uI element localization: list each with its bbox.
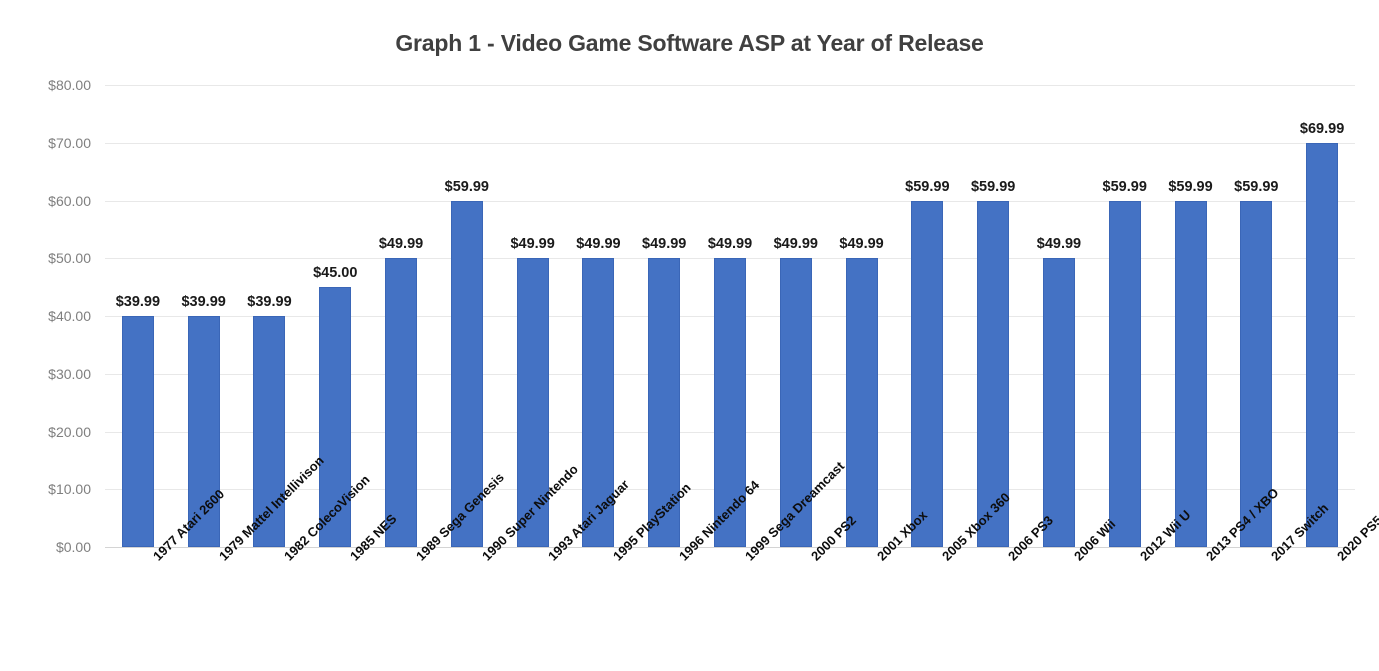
bar-slot: $39.99 <box>188 85 220 547</box>
y-axis-tick-label: $80.00 <box>11 77 91 93</box>
bar-value-label: $49.99 <box>576 236 620 252</box>
bar-value-label: $59.99 <box>905 179 949 195</box>
bar-slot: $45.00 <box>319 85 351 547</box>
bar-value-label: $59.99 <box>1168 179 1212 195</box>
bar-value-label: $69.99 <box>1300 121 1344 137</box>
bar-slot: $59.99 <box>1109 85 1141 547</box>
bar-slot: $39.99 <box>122 85 154 547</box>
bar-value-label: $49.99 <box>379 236 423 252</box>
bar-slot: $59.99 <box>451 85 483 547</box>
y-axis-tick-label: $50.00 <box>11 250 91 266</box>
bar-slot: $49.99 <box>582 85 614 547</box>
bar-value-label: $59.99 <box>1234 179 1278 195</box>
bar-value-label: $39.99 <box>116 294 160 310</box>
y-axis-tick-label: $60.00 <box>11 193 91 209</box>
chart-title: Graph 1 - Video Game Software ASP at Yea… <box>0 30 1379 57</box>
bar-slot: $59.99 <box>911 85 943 547</box>
bar-value-label: $39.99 <box>247 294 291 310</box>
chart-container: Graph 1 - Video Game Software ASP at Yea… <box>0 0 1379 671</box>
bar-slot: $49.99 <box>385 85 417 547</box>
y-axis-tick-label: $10.00 <box>11 481 91 497</box>
bar-value-label: $49.99 <box>839 236 883 252</box>
y-axis-tick-label: $20.00 <box>11 424 91 440</box>
bar-value-label: $45.00 <box>313 265 357 281</box>
bar-value-label: $59.99 <box>445 179 489 195</box>
bar-value-label: $59.99 <box>971 179 1015 195</box>
bar-slot: $59.99 <box>1240 85 1272 547</box>
bar[interactable] <box>1175 201 1207 547</box>
y-axis-tick-label: $70.00 <box>11 135 91 151</box>
bar-value-label: $49.99 <box>774 236 818 252</box>
y-axis-tick-label: $30.00 <box>11 366 91 382</box>
bar-slot: $49.99 <box>846 85 878 547</box>
bar-slot: $49.99 <box>780 85 812 547</box>
bar-slot: $49.99 <box>648 85 680 547</box>
bar-value-label: $49.99 <box>708 236 752 252</box>
bar-value-label: $49.99 <box>510 236 554 252</box>
bar-slot: $49.99 <box>1043 85 1075 547</box>
bar-slot: $59.99 <box>1175 85 1207 547</box>
bar-slot: $49.99 <box>517 85 549 547</box>
bar-value-label: $49.99 <box>1037 236 1081 252</box>
bar[interactable] <box>1306 143 1338 547</box>
bar[interactable] <box>385 258 417 547</box>
bar[interactable] <box>1043 258 1075 547</box>
bar[interactable] <box>1109 201 1141 547</box>
bar-slot: $69.99 <box>1306 85 1338 547</box>
bar[interactable] <box>122 316 154 547</box>
bar-value-label: $59.99 <box>1103 179 1147 195</box>
bar[interactable] <box>911 201 943 547</box>
y-axis-tick-label: $40.00 <box>11 308 91 324</box>
bar[interactable] <box>846 258 878 547</box>
bar-value-label: $49.99 <box>642 236 686 252</box>
bar-slot: $39.99 <box>253 85 285 547</box>
bar-value-label: $39.99 <box>181 294 225 310</box>
bar-slot: $49.99 <box>714 85 746 547</box>
y-axis-tick-label: $0.00 <box>11 539 91 555</box>
bar-slot: $59.99 <box>977 85 1009 547</box>
